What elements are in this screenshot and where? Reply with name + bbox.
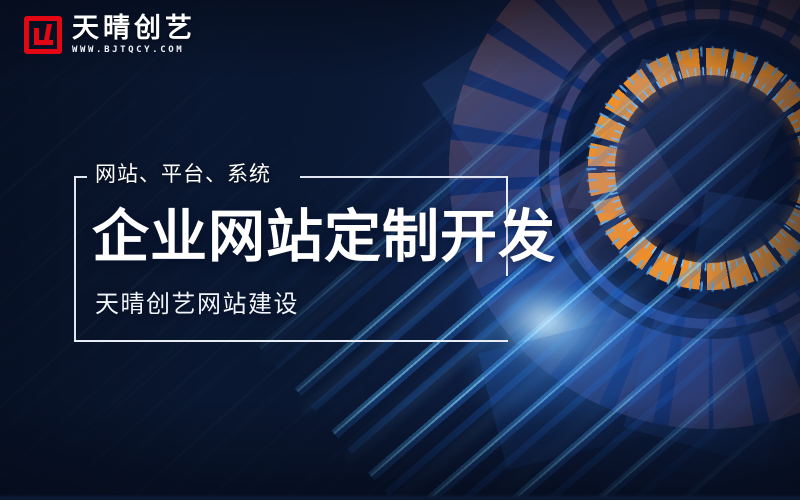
hero-eyebrow: 网站、平台、系统 [95, 160, 271, 188]
brand-logo[interactable]: 天晴创艺 WWW.BJTQCY.COM [24, 14, 196, 55]
hero-content: 网站、平台、系统 企业网站定制开发 天晴创艺网站建设 [0, 0, 560, 500]
logo-brand-name: 天晴创艺 [72, 14, 196, 43]
hero-headline: 企业网站定制开发 [92, 203, 556, 271]
frame-bottom-rule [74, 340, 508, 342]
logo-mark-icon [24, 16, 62, 54]
frame-top-rule [300, 176, 508, 178]
promo-banner: 天晴创艺 WWW.BJTQCY.COM 网站、平台、系统 企业网站定制开发 天晴… [0, 0, 800, 500]
frame-left-rule [74, 176, 76, 342]
logo-text-group: 天晴创艺 WWW.BJTQCY.COM [72, 14, 196, 55]
hero-subline: 天晴创艺网站建设 [95, 288, 299, 320]
logo-website-url: WWW.BJTQCY.COM [72, 45, 196, 55]
